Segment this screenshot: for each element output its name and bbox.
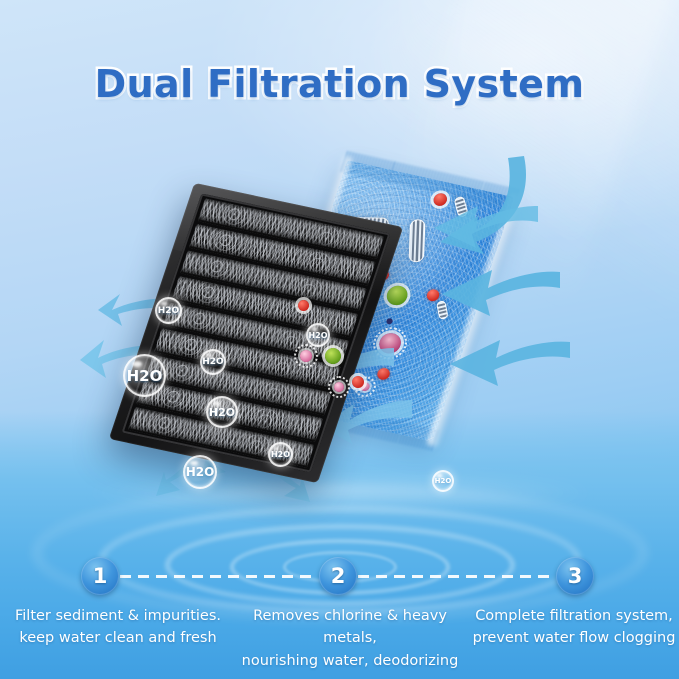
step-badge-3[interactable]: 3 bbox=[556, 557, 594, 595]
pink-microbe-icon bbox=[348, 271, 360, 281]
red-particle-icon bbox=[432, 192, 449, 207]
blue-sponge-filter bbox=[266, 160, 515, 442]
carbon-granule-slat bbox=[180, 250, 367, 311]
green-algae-icon bbox=[384, 284, 410, 307]
carbon-granule-slat bbox=[163, 302, 350, 363]
h2o-bubble: H2O bbox=[123, 354, 166, 397]
red-particle-icon bbox=[326, 292, 335, 300]
step-caption-2: Removes chlorine & heavy metals, nourish… bbox=[228, 605, 472, 672]
step-caption-line: Removes chlorine & heavy metals, bbox=[228, 605, 472, 650]
pink-virus-icon bbox=[376, 331, 403, 355]
red-particle-icon bbox=[344, 342, 358, 355]
step-badge-2[interactable]: 2 bbox=[319, 557, 357, 595]
step-badge-number: 3 bbox=[568, 564, 583, 588]
red-particle-icon bbox=[352, 250, 366, 263]
transfer-arrow-1 bbox=[286, 282, 378, 338]
h2o-bubble: H2O bbox=[155, 297, 182, 324]
h2o-bubble: H2O bbox=[306, 323, 330, 347]
light-streak-decoration bbox=[338, 0, 679, 353]
carbon-granule-slat bbox=[154, 328, 341, 389]
pink-microbe-icon bbox=[300, 350, 312, 362]
step-connector-dashes bbox=[120, 575, 318, 578]
h2o-bubble-label: H2O bbox=[127, 367, 163, 385]
step-caption-3: Complete filtration system, prevent wate… bbox=[472, 605, 676, 650]
page-title: Dual Filtration System bbox=[0, 62, 679, 106]
step-connector-dashes bbox=[358, 575, 556, 578]
rod-bacteria-icon bbox=[409, 219, 426, 263]
sponge-edge-highlight-right bbox=[426, 192, 522, 447]
carbon-granule-slat bbox=[197, 198, 384, 259]
sponge-fiber-fringe-top bbox=[340, 151, 520, 210]
rod-bacteria-icon bbox=[341, 217, 390, 231]
green-algae-icon bbox=[325, 348, 341, 364]
transfer-arrow-2 bbox=[300, 340, 396, 396]
inbound-flow-arrow-4 bbox=[430, 196, 540, 252]
step-caption-line: Complete filtration system, bbox=[472, 605, 676, 627]
rod-bacteria-icon bbox=[453, 195, 468, 217]
pink-microbe-icon bbox=[359, 381, 371, 391]
step-caption-line: prevent water flow clogging bbox=[472, 627, 676, 649]
outbound-flow-arrow-1 bbox=[96, 288, 182, 332]
step-caption-line: keep water clean and fresh bbox=[8, 627, 228, 649]
outbound-flow-arrow-2 bbox=[78, 332, 178, 382]
carbon-granule-slat bbox=[189, 224, 376, 285]
red-particle-icon bbox=[298, 300, 309, 311]
navy-dot-icon bbox=[386, 318, 394, 325]
water-glow-highlight bbox=[80, 470, 600, 516]
product-infographic-poster: Dual Filtration System bbox=[0, 0, 679, 679]
step-badge-1[interactable]: 1 bbox=[81, 557, 119, 595]
red-particle-icon bbox=[376, 367, 392, 381]
red-particle-icon bbox=[425, 288, 441, 302]
pink-microbe-icon bbox=[334, 382, 344, 392]
inbound-flow-arrow-2 bbox=[436, 258, 562, 322]
rod-bacteria-icon bbox=[436, 300, 449, 320]
navy-dot-icon bbox=[386, 234, 394, 241]
steps-strip: 1 2 3 Filter sediment & impurities. keep… bbox=[0, 557, 679, 679]
carbon-granule-slat bbox=[145, 354, 332, 415]
step-caption-1: Filter sediment & impurities. keep water… bbox=[8, 605, 228, 650]
step-badge-number: 2 bbox=[331, 564, 346, 588]
step-badge-number: 1 bbox=[93, 564, 108, 588]
sponge-edge-highlight-left bbox=[258, 155, 352, 409]
h2o-bubble-label: H2O bbox=[158, 306, 179, 316]
h2o-bubble: H2O bbox=[200, 349, 226, 375]
inbound-flow-arrow-1 bbox=[420, 150, 540, 260]
sponge-body bbox=[266, 160, 515, 442]
carbon-granule-slat bbox=[171, 276, 358, 337]
navy-dot-icon bbox=[319, 366, 327, 373]
h2o-bubble-label: H2O bbox=[308, 331, 327, 340]
step-caption-line: Filter sediment & impurities. bbox=[8, 605, 228, 627]
red-particle-icon bbox=[352, 376, 364, 388]
step-caption-line: nourishing water, deodorizing bbox=[228, 650, 472, 672]
h2o-bubble-label: H2O bbox=[202, 357, 223, 367]
inbound-flow-arrow-3 bbox=[444, 330, 572, 392]
red-particle-icon bbox=[377, 269, 390, 281]
